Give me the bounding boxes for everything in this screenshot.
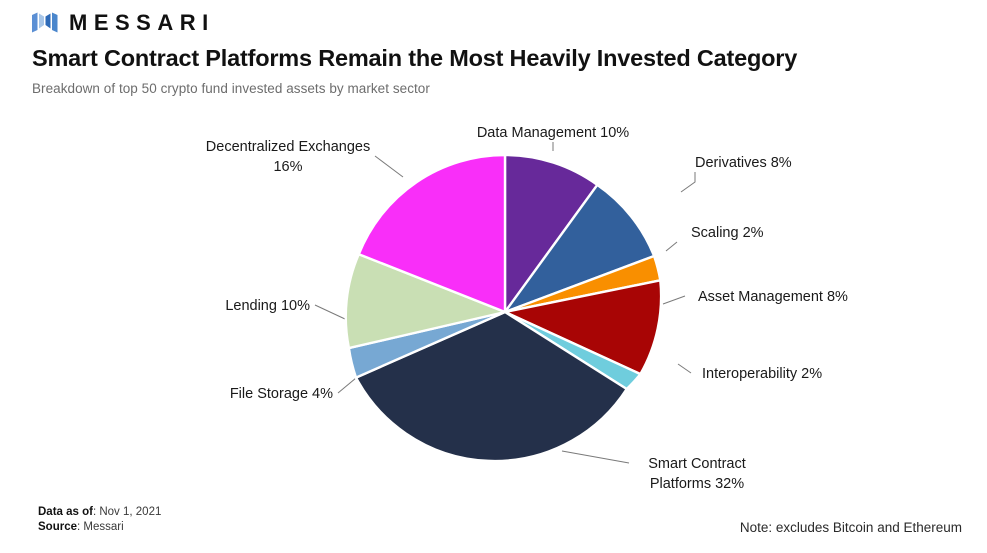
leader-asset-management [663, 296, 685, 304]
leader-smart-contract [562, 451, 629, 463]
brand-wordmark: MESSARI [69, 12, 215, 34]
leader-lending [315, 305, 345, 319]
footer-note: Note: excludes Bitcoin and Ethereum [740, 520, 962, 535]
label-derivatives: Derivatives 8% [695, 155, 792, 171]
label-scaling: Scaling 2% [691, 225, 764, 241]
pie-chart-container: Data Management 10% Derivatives 8% Scali… [0, 108, 987, 503]
leader-scaling [666, 242, 677, 251]
page-subtitle: Breakdown of top 50 crypto fund invested… [32, 81, 963, 96]
label-asset-management: Asset Management 8% [698, 289, 848, 305]
leader-file-storage [338, 378, 356, 393]
leader-derivatives [681, 172, 695, 192]
label-decentralized-exchanges-line2: 16% [273, 159, 302, 175]
label-decentralized-exchanges-line1: Decentralized Exchanges [206, 139, 370, 155]
data-as-of-label: Data as of [38, 506, 93, 518]
data-as-of-value: : Nov 1, 2021 [93, 506, 161, 518]
source-value: : Messari [77, 521, 124, 533]
label-interoperability: Interoperability 2% [702, 366, 822, 382]
pie-chart-svg: Data Management 10% Derivatives 8% Scali… [0, 108, 987, 503]
data-as-of-row: Data as of: Nov 1, 2021 [38, 505, 161, 520]
chart-footer: Data as of: Nov 1, 2021 Source: Messari … [0, 503, 987, 553]
source-label: Source [38, 521, 77, 533]
label-file-storage: File Storage 4% [230, 386, 333, 402]
leader-interoperability [678, 364, 691, 373]
pie-slices [346, 155, 661, 461]
chart-header: MESSARI Smart Contract Platforms Remain … [32, 8, 963, 96]
source-row: Source: Messari [38, 520, 161, 535]
label-data-management: Data Management 10% [477, 125, 629, 141]
label-lending: Lending 10% [225, 298, 310, 314]
leader-dex [375, 156, 403, 177]
brand-logo: MESSARI [32, 8, 963, 38]
label-smart-contract-platforms-line2: Platforms 32% [650, 476, 744, 492]
footer-metadata: Data as of: Nov 1, 2021 Source: Messari [38, 505, 161, 535]
label-smart-contract-platforms-line1: Smart Contract [648, 456, 746, 472]
messari-logo-icon [32, 12, 62, 34]
page-title: Smart Contract Platforms Remain the Most… [32, 45, 963, 72]
